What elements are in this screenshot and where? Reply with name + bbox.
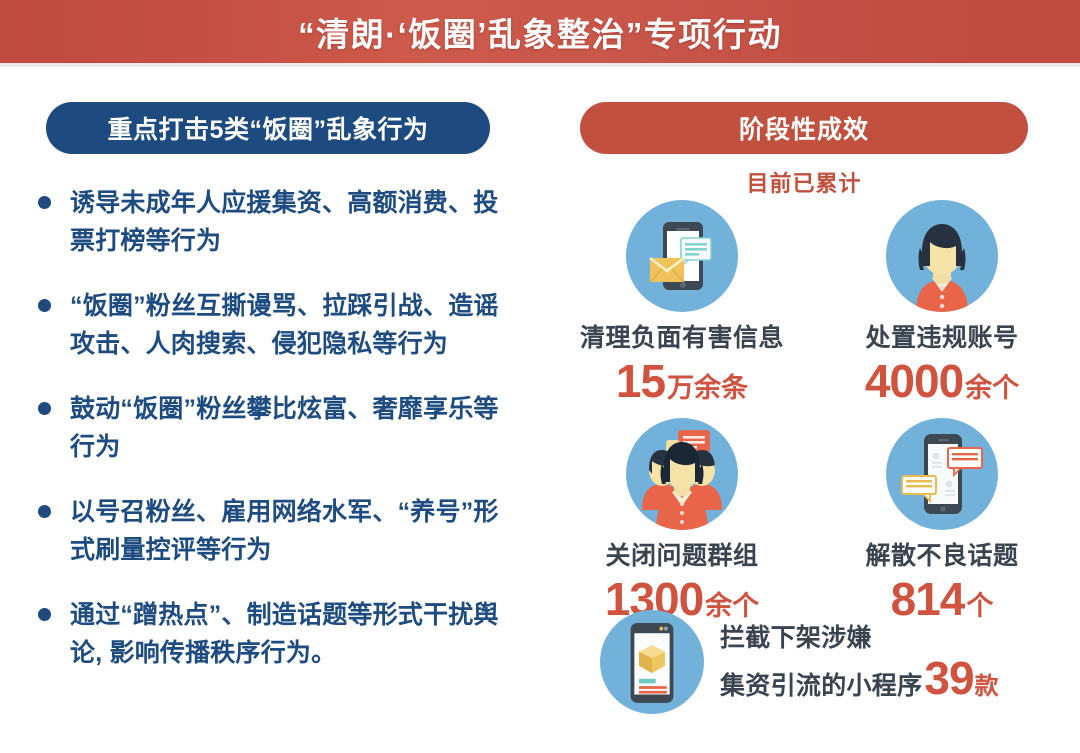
list-item: 以号召粉丝、雇用网络水军、“养号”形式刷量控评等行为 [38,493,516,569]
wide-stat-number: 39 [924,655,973,701]
list-item: 鼓动“饭圈”粉丝攀比炫富、奢靡享乐等行为 [38,390,516,466]
wide-stat-label-line2: 集资引流的小程序 [720,669,922,704]
group-people-icon [626,418,738,530]
stat-label: 清理负面有害信息 [580,318,784,354]
stat-number: 4000 [865,358,963,404]
bullet-dot-icon [38,196,51,209]
right-panel-heading-pill: 阶段性成效 [580,102,1028,154]
statistics-row: 关闭问题群组 1300 余个 [562,418,1062,622]
bullet-dot-icon [38,608,51,621]
stat-value: 15 万余条 [616,358,748,404]
list-item-label: 诱导未成年人应援集资、高额消费、投票打榜等行为 [70,184,516,260]
right-panel-subheading: 目前已累计 [580,166,1028,198]
list-item: 通过“蹭热点”、制造话题等形式干扰舆论, 影响传播秩序行为。 [38,596,516,672]
user-avatar-icon [886,200,998,312]
violation-list: 诱导未成年人应援集资、高额消费、投票打榜等行为 “饭圈”粉丝互撕谩骂、拉踩引战、… [38,184,516,699]
wide-stat-line2: 集资引流的小程序 39 款 [720,655,999,704]
stat-cell: 清理负面有害信息 15 万余条 [562,200,802,404]
list-item-label: 通过“蹭热点”、制造话题等形式干扰舆论, 影响传播秩序行为。 [70,596,516,672]
right-panel: 阶段性成效 目前已累计 [540,72,1080,753]
phone-miniprogram-icon [600,610,704,714]
wide-stat-label-line1: 拦截下架涉嫌 [720,621,999,656]
statistics-grid: 清理负面有害信息 15 万余条 [562,200,1062,622]
phone-chat-bubbles-icon [886,418,998,530]
stat-unit: 万余条 [667,375,748,402]
bullet-dot-icon [38,505,51,518]
list-item: 诱导未成年人应援集资、高额消费、投票打榜等行为 [38,184,516,260]
bullet-dot-icon [38,299,51,312]
stat-cell: 解散不良话题 814 个 [822,418,1062,622]
banner-divider [0,63,1080,67]
list-item: “饭圈”粉丝互撕谩骂、拉踩引战、造谣攻击、人肉搜索、侵犯隐私等行为 [38,287,516,363]
page-title: “清朗·‘饭圈’乱象整治”专项行动 [298,8,782,56]
stat-number: 15 [616,358,665,404]
infographic-page: “清朗·‘饭圈’乱象整治”专项行动 重点打击5类“饭圈”乱象行为 诱导未成年人应… [0,0,1080,753]
statistics-row: 清理负面有害信息 15 万余条 [562,200,1062,404]
phone-message-icon [626,200,738,312]
list-item-label: 鼓动“饭圈”粉丝攀比炫富、奢靡享乐等行为 [70,390,516,466]
stat-label: 关闭问题群组 [605,536,758,572]
list-item-label: 以号召粉丝、雇用网络水军、“养号”形式刷量控评等行为 [70,493,516,569]
stat-value: 4000 余个 [865,358,1019,404]
stat-cell: 处置违规账号 4000 余个 [822,200,1062,404]
wide-stat: 拦截下架涉嫌 集资引流的小程序 39 款 [600,610,1070,714]
left-panel: 重点打击5类“饭圈”乱象行为 诱导未成年人应援集资、高额消费、投票打榜等行为 “… [0,72,540,753]
left-panel-heading-pill: 重点打击5类“饭圈”乱象行为 [46,102,490,154]
stat-unit: 余个 [965,375,1019,402]
page-banner: “清朗·‘饭圈’乱象整治”专项行动 [0,0,1080,63]
bullet-dot-icon [38,402,51,415]
stat-label: 解散不良话题 [865,536,1018,572]
wide-stat-unit: 款 [975,670,999,703]
list-item-label: “饭圈”粉丝互撕谩骂、拉踩引战、造谣攻击、人肉搜索、侵犯隐私等行为 [70,287,516,363]
right-panel-heading-text: 阶段性成效 [739,110,869,146]
stat-cell: 关闭问题群组 1300 余个 [562,418,802,622]
stat-label: 处置违规账号 [865,318,1018,354]
left-panel-heading-text: 重点打击5类“饭圈”乱象行为 [108,110,429,146]
wide-stat-text: 拦截下架涉嫌 集资引流的小程序 39 款 [720,621,999,704]
